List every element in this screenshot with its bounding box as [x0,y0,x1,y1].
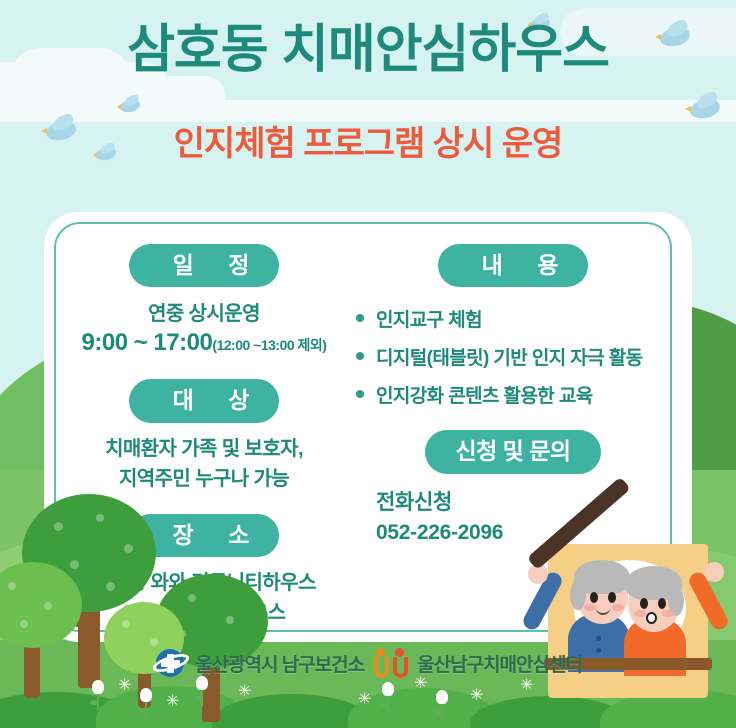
footer-org-2-label: 울산남구치매안심센터 [417,650,582,677]
footer: 울산광역시 남구보건소 울산남구치매안심센터 [0,648,736,678]
schedule-time-note: (12:00 ~13:00 제외) [212,337,326,353]
flower-star-icon: ✳ [166,694,179,710]
target-line1: 치매환자 가족 및 보호자, [54,434,354,464]
poster: 삼호동 치매안심하우스 인지체험 프로그램 상시 운영 [0,0,736,728]
health-center-logo-icon [154,648,188,678]
list-item: 인지교구 체험 [354,305,672,332]
section-pill-content: 내 용 [438,244,589,287]
cloud [95,76,225,116]
right-column: 내 용 인지교구 체험 디지털(태블릿) 기반 인지 자극 활동 인지강화 콘텐… [354,244,672,548]
footer-org-1-label: 울산광역시 남구보건소 [195,650,364,677]
list-item: 디지털(태블릿) 기반 인지 자극 활동 [354,343,672,370]
section-pill-target: 대 상 [129,379,280,422]
poster-title: 삼호동 치매안심하우스 [0,22,736,79]
dementia-center-logo-icon [374,648,410,678]
schedule-line1: 연중 상시운영 [54,299,354,329]
content-bullet-list: 인지교구 체험 디지털(태블릿) 기반 인지 자극 활동 인지강화 콘텐츠 활용… [354,305,672,408]
footer-org-2: 울산남구치매안심센터 [374,648,582,678]
flower-star-icon: ✳ [520,678,533,694]
schedule-time: 9:00 ~ 17:00(12:00 ~13:00 제외) [54,329,354,357]
section-pill-schedule: 일 정 [129,244,280,287]
flower-star-icon: ✳ [470,688,483,704]
flower-star-icon: ✳ [238,684,251,700]
flower-star-icon: ✳ [358,692,371,708]
list-item: 인지강화 콘텐츠 활용한 교육 [354,381,672,408]
flower-star-icon: ✳ [118,678,131,694]
schedule-time-range: 9:00 ~ 17:00 [82,329,213,356]
footer-org-1: 울산광역시 남구보건소 [154,648,364,678]
section-pill-inquiry: 신청 및 문의 [425,430,600,473]
poster-subtitle: 인지체험 프로그램 상시 운영 [0,116,736,165]
flower-star-icon: ✳ [414,676,427,692]
